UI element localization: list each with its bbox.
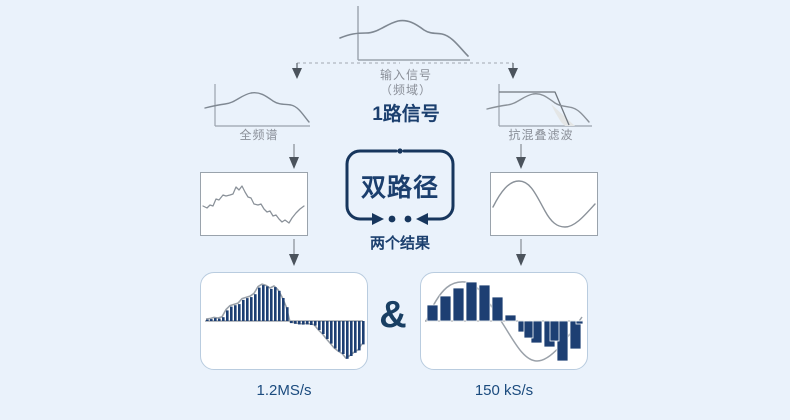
low-rate-panel — [420, 272, 588, 370]
arrow-inward-left-icon — [372, 213, 384, 225]
arrow-down-svg — [285, 239, 303, 267]
sine-waveform-path — [493, 181, 595, 227]
diagram-canvas: 输入信号 （频域） 1路信号 全频谱 — [0, 0, 790, 420]
low-rate-label: 150 kS/s — [420, 382, 588, 399]
spectrum-curve — [205, 93, 309, 122]
dot-top-icon — [397, 148, 402, 153]
dot-right-icon — [405, 216, 412, 223]
arrow-left-to-noise-box — [285, 144, 303, 170]
filtered-waveform-svg — [491, 173, 597, 235]
high-rate-label: 1.2MS/s — [200, 382, 368, 399]
arrow-down-icon — [289, 157, 299, 169]
ampersand-separator: & — [376, 296, 410, 334]
arrow-down-svg — [512, 144, 530, 170]
channel-count-label: 1路信号 — [336, 99, 476, 126]
arrow-inward-right-icon — [416, 213, 428, 225]
arrow-down-icon — [289, 254, 299, 266]
input-signal-label-line2: （频域） — [336, 81, 476, 98]
arrow-down-svg — [285, 144, 303, 170]
low-rate-sampling-svg — [421, 273, 587, 369]
arrow-filter-to-sine-box — [512, 144, 530, 170]
dot-left-icon — [389, 216, 396, 223]
high-rate-sampling-svg — [201, 273, 367, 369]
wideband-waveform-box — [200, 172, 308, 236]
arrow-right-icon — [508, 68, 518, 79]
arrow-left-icon — [292, 68, 302, 79]
filtered-waveform-box — [490, 172, 598, 236]
two-results-label: 两个结果 — [344, 232, 456, 253]
noise-waveform-path — [203, 186, 304, 223]
wideband-waveform-svg — [201, 173, 307, 235]
high-rate-panel — [200, 272, 368, 370]
arrow-down-svg — [512, 239, 530, 267]
arrow-down-icon — [516, 254, 526, 266]
full-spectrum-label: 全频谱 — [203, 126, 315, 143]
arrow-sine-box-to-low-rate — [512, 239, 530, 267]
filter-mask-path — [499, 92, 569, 125]
anti-alias-label: 抗混叠滤波 — [485, 126, 597, 143]
dual-path-text: 双路径 — [344, 168, 456, 204]
signal-curve — [487, 94, 589, 122]
arrow-down-icon — [516, 157, 526, 169]
sample-bars — [206, 285, 365, 359]
arrow-noise-box-to-high-rate — [285, 239, 303, 267]
